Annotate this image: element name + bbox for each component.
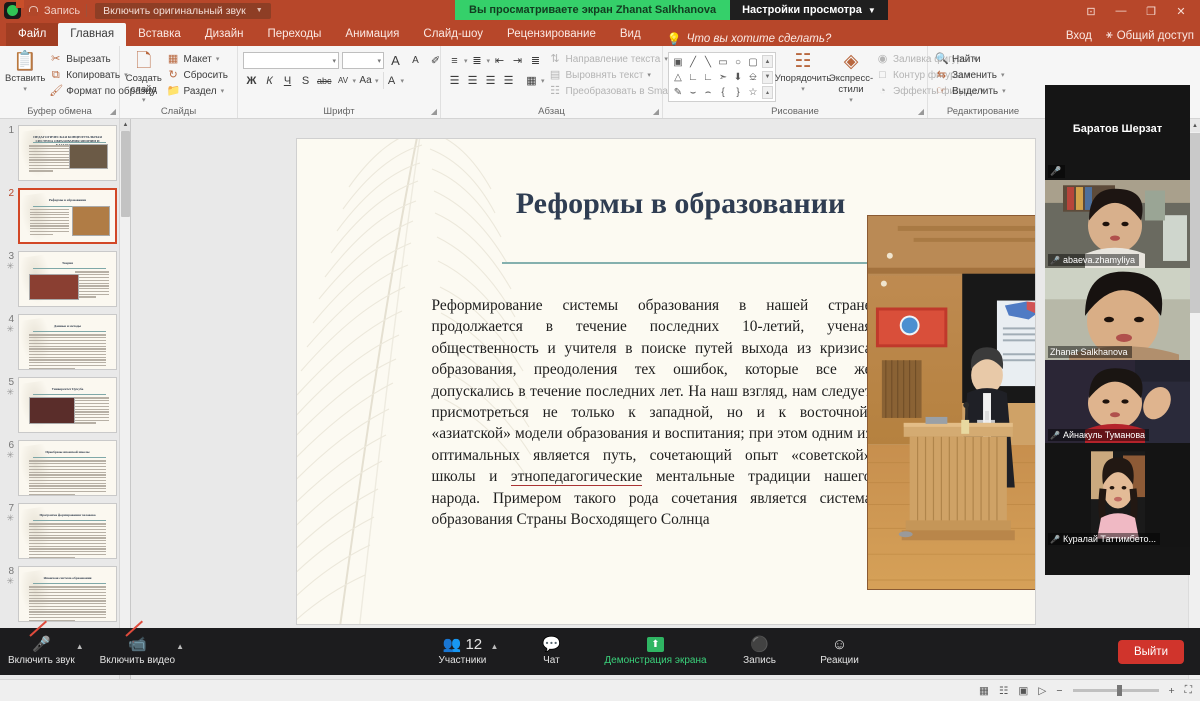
shape-oval-icon[interactable]: ○: [731, 55, 745, 69]
quick-styles-button[interactable]: ◈ Экспресс-стили ▾: [830, 49, 872, 106]
paste-label: Вставить: [5, 73, 45, 84]
start-video-button[interactable]: 📹 Включить видео: [100, 636, 176, 667]
tell-me-label: Что вы хотите сделать?: [687, 33, 832, 45]
share-screen-label: Демонстрация экрана: [604, 654, 706, 667]
clipboard-icon: 📋: [13, 51, 37, 73]
microphone-muted-icon: 🎤: [1050, 431, 1060, 440]
shape-star-icon[interactable]: ☆: [746, 85, 760, 99]
zoom-slider-knob[interactable]: [1117, 685, 1122, 696]
chevron-down-icon: ▾: [541, 77, 545, 85]
slide-sorter-icon[interactable]: ☷: [999, 685, 1008, 697]
thumbnail-title: Преобразы японской школы: [27, 450, 109, 454]
thumbnail-rule: [33, 142, 107, 143]
thumbnail-number: 4✳: [0, 314, 18, 334]
align-left-button[interactable]: ☰: [446, 72, 463, 89]
reading-view-icon[interactable]: ▣: [1018, 685, 1028, 697]
scissors-icon: ✂: [49, 53, 62, 66]
thumbnail-title: Данные и методы: [27, 324, 109, 328]
participant-name-text: Куралай Таттимбето...: [1063, 534, 1156, 544]
section-label: Раздел: [184, 85, 217, 98]
new-slide-icon: 🗋: [136, 51, 151, 73]
thumbnail-number: 6✳: [0, 440, 18, 460]
shape-elbow2-icon[interactable]: ∟: [701, 70, 715, 84]
shape-flowchart-icon[interactable]: ⎒: [746, 70, 760, 84]
microphone-muted-icon: 🎤: [1050, 535, 1060, 544]
animation-star-icon: ✳: [0, 262, 14, 271]
slide-thumbnail-list[interactable]: 1ПЕДАГОГИЧЕСКАЯ КОНЦЕПТУАЛЬНАЯ СИСТЕМА О…: [0, 119, 130, 622]
text-direction-label: Направление текста: [566, 53, 661, 66]
view-options-button[interactable]: Настройки просмотра ▼: [730, 0, 888, 20]
shape-curve-icon[interactable]: ⌣: [686, 85, 700, 99]
reactions-icon: ☺: [832, 636, 847, 653]
thumbnail-number: 8✳: [0, 566, 18, 586]
canvas-scroll-up-icon[interactable]: ▲: [1189, 119, 1200, 132]
tab-slideshow[interactable]: Слайд-шоу: [411, 23, 495, 46]
zoom-share-indicator: Вы просматриваете экран Zhanat Salkhanov…: [455, 0, 888, 20]
shape-left-brace-icon[interactable]: {: [716, 85, 730, 99]
replace-icon: ⇆: [935, 69, 948, 82]
slide-photo[interactable]: [867, 215, 1035, 590]
font-name-combo[interactable]: ▾: [243, 52, 339, 69]
chevron-down-icon: ▾: [1002, 85, 1006, 98]
shape-effects-icon: ◔: [876, 85, 889, 98]
fit-to-window-icon[interactable]: ⛶: [1185, 684, 1192, 697]
ppt-status-bar: ▦ ☷ ▣ ▷ − + ⛶: [0, 679, 1200, 701]
record-label: Запись: [743, 654, 776, 667]
work-area: 1ПЕДАГОГИЧЕСКАЯ КОНЦЕПТУАЛЬНАЯ СИСТЕМА О…: [0, 119, 1200, 679]
zoom-out-icon[interactable]: −: [1056, 685, 1062, 697]
new-slide-button[interactable]: 🗋 Создать слайд ▾: [125, 49, 163, 106]
window-controls: ⊡ — ❐ ✕: [1076, 2, 1196, 20]
copy-icon: ⧉: [49, 69, 62, 82]
sharing-banner: Вы просматриваете экран Zhanat Salkhanov…: [455, 0, 730, 20]
microphone-muted-icon: 🎤: [1048, 165, 1065, 178]
slide-thumbnail[interactable]: Данные и методы: [18, 314, 117, 370]
maximize-button[interactable]: ❐: [1136, 2, 1166, 20]
thumbnail-photo: [29, 274, 79, 300]
cursor-select-icon: ☞: [935, 85, 948, 98]
zoom-top-left-controls: Запись Включить оригинальный звук ▼: [4, 2, 271, 19]
thumbnail-photo: [69, 144, 108, 169]
shape-line-icon[interactable]: ╱: [686, 55, 700, 69]
layout-icon: ▦: [167, 53, 180, 66]
find-button[interactable]: 🔍 Найти: [933, 52, 1010, 67]
replace-label: Заменить: [952, 69, 997, 82]
ribbon: 📋 Вставить ▾ ✂ Вырезать ⧉ Копировать ▾: [0, 46, 1200, 119]
thumbnail-row[interactable]: 5✳Университет Цукуба: [0, 377, 126, 433]
copy-label: Копировать: [66, 69, 120, 82]
zoom-app-icon: [4, 2, 21, 19]
video-tile[interactable]: К.Калиевна Тал...🎤: [1045, 547, 1190, 575]
decrease-indent-button[interactable]: ⇤: [491, 52, 508, 69]
italic-button[interactable]: К: [261, 72, 278, 89]
leave-meeting-button[interactable]: Выйти: [1118, 640, 1184, 664]
chevron-down-icon: ▾: [1001, 69, 1005, 82]
group-title-paragraph: Абзац: [446, 106, 657, 118]
mute-label: Включить звук: [8, 654, 75, 667]
participant-name-label: 🎤Айнакуль Туманова: [1048, 429, 1149, 441]
align-text-icon: ▤: [549, 69, 562, 82]
replace-button[interactable]: ⇆ Заменить ▾: [933, 68, 1010, 83]
restore-down-icon[interactable]: ⊡: [1076, 2, 1106, 20]
group-title-editing: Редактирование: [933, 106, 1033, 118]
thumbnail-body-lines: [75, 271, 109, 299]
cut-label: Вырезать: [66, 53, 110, 66]
arrange-button[interactable]: ☷ Упорядочить ▾: [778, 49, 828, 95]
mute-button[interactable]: 🎤 Включить звук: [8, 636, 75, 667]
shapes-more-icon[interactable]: ▴: [762, 86, 773, 99]
original-sound-label: Включить оригинальный звук: [103, 5, 246, 17]
tab-insert[interactable]: Вставка: [126, 23, 193, 46]
original-sound-button[interactable]: Включить оригинальный звук ▼: [95, 3, 271, 19]
thumbnail-body-lines: [29, 586, 107, 622]
lecture-hall-photo: [868, 216, 1035, 589]
section-button[interactable]: 📁 Раздел ▾: [165, 84, 232, 99]
strikethrough-button[interactable]: abc: [315, 72, 334, 89]
thumbnail-rule: [33, 457, 107, 458]
increase-indent-button[interactable]: ⇥: [509, 52, 526, 69]
reset-button[interactable]: ↻ Сбросить: [165, 68, 232, 83]
chat-icon: 💬: [542, 636, 561, 653]
thumbnail-row[interactable]: 3✳Теория: [0, 251, 126, 307]
paste-button[interactable]: 📋 Вставить ▾: [5, 49, 45, 95]
drawing-dialog-launcher[interactable]: ◢: [918, 107, 924, 116]
thumbnail-number: 2: [0, 188, 18, 199]
slide-canvas-pane: Реформы в образовании Реформирование сис…: [131, 119, 1200, 679]
tab-design[interactable]: Дизайн: [193, 23, 256, 46]
thumbnail-rule: [33, 583, 107, 584]
share-button[interactable]: ⚹ Общий доступ: [1106, 29, 1194, 42]
shape-fill-icon: ◉: [876, 53, 889, 66]
minimize-button[interactable]: —: [1106, 2, 1136, 20]
thumbnail-number: 1: [0, 125, 18, 136]
thumbnail-title: Университет Цукуба: [27, 387, 109, 391]
zoom-toolbar-center: 👥 12 Участники ▲ 💬 Чат ⬆ Демонстрация эк…: [184, 636, 1118, 667]
group-title-drawing: Рисование: [668, 106, 922, 118]
font-dialog-launcher[interactable]: ◢: [431, 107, 437, 116]
tab-view[interactable]: Вид: [608, 23, 653, 46]
record-circle-icon: ⚫: [750, 636, 769, 653]
font-color-button[interactable]: A: [383, 72, 400, 89]
canvas-scroll-thumb[interactable]: [1190, 133, 1200, 313]
columns-button[interactable]: ▦: [523, 72, 540, 89]
participant-name-text: Zhanat Salkhanova: [1050, 347, 1128, 357]
participant-name-text: abaeva.zhamyliya: [1063, 255, 1135, 265]
chevron-down-icon: ▾: [647, 69, 651, 82]
normal-view-icon[interactable]: ▦: [979, 685, 989, 697]
thumbnail-scroll-up-icon[interactable]: ▲: [120, 119, 131, 131]
animation-star-icon: ✳: [0, 388, 14, 397]
chevron-down-icon: ▾: [353, 77, 357, 85]
thumbnail-title: Программа формирования человека: [27, 513, 109, 517]
video-tile[interactable]: Баратов Шерзат🎤: [1045, 85, 1190, 180]
zoom-in-icon[interactable]: +: [1169, 685, 1175, 697]
participant-name-label: Zhanat Salkhanova: [1048, 346, 1132, 358]
bullets-button[interactable]: ≡: [446, 52, 463, 69]
text-direction-icon: ⇅: [549, 53, 562, 66]
chevron-down-icon: ▾: [142, 95, 146, 106]
shapes-gallery[interactable]: ▣ ╱ ╲ ▭ ○ ▢ △ ∟ ∟ ➣ ⬇ ⎒ ✎ ⌣ ⌢: [668, 52, 776, 102]
participant-video-feed: [1045, 443, 1190, 547]
animation-star-icon: ✳: [0, 514, 14, 523]
group-title-clipboard: Буфер обмена: [5, 106, 114, 118]
tab-review[interactable]: Рецензирование: [495, 23, 608, 46]
camera-off-icon: 📹: [128, 636, 147, 653]
chat-button[interactable]: 💬 Чат: [524, 636, 578, 667]
select-button[interactable]: ☞ Выделить ▾: [933, 84, 1010, 99]
thumbnail-row[interactable]: 1ПЕДАГОГИЧЕСКАЯ КОНЦЕПТУАЛЬНАЯ СИСТЕМА О…: [0, 125, 126, 181]
thumbnail-photo: [72, 206, 110, 236]
participants-control[interactable]: 👥 12 Участники ▲: [435, 636, 498, 667]
reset-label: Сбросить: [184, 69, 228, 82]
thumbnail-title: Японская система образования: [27, 576, 109, 580]
slide-canvas[interactable]: Реформы в образовании Реформирование сис…: [297, 139, 1035, 624]
thumbnail-photo: [29, 397, 76, 424]
arrange-icon: ☷: [794, 51, 811, 73]
chevron-down-icon: ▼: [868, 6, 876, 15]
slide-thumbnail[interactable]: Реформы в образовании: [18, 188, 117, 244]
chevron-down-icon: ▾: [849, 95, 853, 106]
thumbnail-number: 5✳: [0, 377, 18, 397]
quick-styles-icon: ◈: [844, 51, 859, 73]
shapes-scroll-down-icon[interactable]: ▼: [762, 71, 773, 84]
video-tile[interactable]: Zhanat Salkhanova: [1045, 268, 1190, 360]
slideshow-icon[interactable]: ▷: [1038, 685, 1046, 697]
shape-down-arrow-icon[interactable]: ⬇: [731, 70, 745, 84]
shape-arc-icon[interactable]: ⌢: [701, 85, 715, 99]
share-label: Общий доступ: [1117, 30, 1194, 42]
ribbon-group-font: ▾ ▾ A A ✐ Ж К Ч S abc AV ▾: [238, 46, 441, 118]
tab-home[interactable]: Главная: [58, 23, 126, 46]
shape-outline-icon: □: [876, 69, 889, 82]
paintbrush-icon: 🖌: [49, 85, 62, 98]
new-slide-label: Создать слайд: [125, 73, 163, 95]
shape-arrow-icon[interactable]: ╲: [701, 55, 715, 69]
shapes-scrollbar[interactable]: ▲ ▼ ▴: [762, 55, 773, 99]
font-size-combo[interactable]: ▾: [342, 52, 384, 69]
thumbnail-rule: [33, 394, 107, 395]
align-center-button[interactable]: ☰: [464, 72, 481, 89]
close-button[interactable]: ✕: [1166, 2, 1196, 20]
slide-thumbnail[interactable]: Японская система образования: [18, 566, 117, 622]
zoom-video-strip[interactable]: Баратов Шерзат🎤 🎤abaeva.zhamyliya: [1045, 85, 1190, 575]
thumbnail-row[interactable]: 2Реформы в образовании: [0, 188, 126, 244]
thumbnail-body-lines: [29, 145, 70, 173]
shape-rounded-rect-icon[interactable]: ▢: [746, 55, 760, 69]
paragraph-dialog-launcher[interactable]: ◢: [653, 107, 659, 116]
video-tile[interactable]: 🎤Айнакуль Туманова: [1045, 360, 1190, 443]
reset-icon: ↻: [167, 69, 180, 82]
thumbnail-body-lines: [29, 523, 107, 559]
thumbnail-body-lines: [29, 460, 107, 496]
chevron-down-icon: ▾: [332, 57, 336, 65]
chevron-down-icon[interactable]: ▼: [256, 7, 263, 14]
thumbnail-rule: [33, 331, 107, 332]
layout-button[interactable]: ▦ Макет ▾: [165, 52, 232, 67]
chevron-down-icon: ▾: [487, 57, 491, 65]
animation-star-icon: ✳: [0, 577, 14, 586]
thumbnail-index: 2: [8, 188, 14, 199]
align-text-label: Выровнять текст: [566, 69, 644, 82]
microphone-muted-icon: 🎤: [1050, 256, 1060, 265]
participant-name-label: 🎤abaeva.zhamyliya: [1048, 254, 1139, 266]
shape-elbow-icon[interactable]: ∟: [686, 70, 700, 84]
ribbon-group-slides: 🗋 Создать слайд ▾ ▦ Макет ▾ ↻ Сбросить: [120, 46, 238, 118]
select-label: Выделить: [952, 85, 998, 98]
thumbnail-title: Теория: [27, 261, 109, 265]
slide-text-run: Реформирование системы образования в наш…: [432, 297, 872, 485]
record-indicator-icon[interactable]: [27, 5, 38, 16]
numbering-button[interactable]: ≣: [469, 52, 486, 69]
line-spacing-button[interactable]: ≣: [527, 52, 544, 69]
thumbnail-body-lines: [30, 209, 70, 237]
chevron-down-icon: ▾: [23, 84, 27, 95]
participants-button[interactable]: 👥 12 Участники: [435, 636, 489, 667]
chevron-down-icon: ▾: [464, 57, 468, 65]
slide-thumbnail[interactable]: Теория: [18, 251, 117, 307]
thumbnail-scrollbar[interactable]: ▲ ▼: [119, 119, 130, 679]
thumbnail-rule: [33, 268, 107, 269]
video-control[interactable]: 📹 Включить видео ▲: [100, 636, 184, 667]
align-right-button[interactable]: ☰: [482, 72, 499, 89]
thumbnail-index: 1: [8, 125, 14, 136]
zoom-meeting-toolbar: 🎤 Включить звук ▲ 📹 Включить видео ▲ 👥 1…: [0, 628, 1200, 675]
signin-link[interactable]: Вход: [1066, 30, 1092, 42]
video-tile[interactable]: 🎤Куралай Таттимбето...: [1045, 443, 1190, 547]
participants-icon: 👥 12: [443, 636, 482, 653]
thumbnail-body-lines: [29, 334, 107, 370]
chevron-down-icon: ▾: [801, 84, 805, 95]
thumbnail-title: Реформы в образовании: [28, 198, 108, 202]
layout-label: Макет: [184, 53, 212, 66]
search-icon: 🔍: [935, 53, 948, 66]
tab-transitions[interactable]: Переходы: [255, 23, 333, 46]
microphone-muted-icon: 🎤: [32, 636, 51, 653]
record-label[interactable]: Запись: [44, 5, 80, 17]
participant-name-centered: Баратов Шерзат: [1045, 123, 1190, 135]
thumbnail-number: 3✳: [0, 251, 18, 271]
shape-right-arrow-icon[interactable]: ➣: [716, 70, 730, 84]
chevron-down-icon: ▾: [377, 57, 381, 65]
justify-button[interactable]: ☰: [500, 72, 517, 89]
reactions-label: Реакции: [820, 654, 859, 667]
slide-thumbnail[interactable]: Университет Цукуба: [18, 377, 117, 433]
section-icon: 📁: [167, 85, 180, 98]
animation-star-icon: ✳: [0, 325, 14, 334]
ribbon-group-editing: 🔍 Найти ⇆ Заменить ▾ ☞ Выделить ▾ Реда: [928, 46, 1038, 118]
record-button[interactable]: ⚫ Запись: [733, 636, 787, 667]
ribbon-group-paragraph: ≡▾ ≣▾ ⇤ ⇥ ≣ ☰ ☰ ☰ ☰ ▦▾: [441, 46, 663, 118]
ribbon-group-drawing: ▣ ╱ ╲ ▭ ○ ▢ △ ∟ ∟ ➣ ⬇ ⎒ ✎ ⌣ ⌢: [663, 46, 928, 118]
participant-name-label: 🎤Куралай Таттимбето...: [1048, 533, 1160, 545]
start-video-label: Включить видео: [100, 654, 176, 667]
chevron-down-icon: ▾: [221, 85, 225, 98]
decrease-font-size-button[interactable]: A: [407, 52, 424, 69]
change-case-button[interactable]: Aa: [357, 72, 374, 89]
ribbon-group-clipboard: 📋 Вставить ▾ ✂ Вырезать ⧉ Копировать ▾: [0, 46, 120, 118]
share-screen-button[interactable]: ⬆ Демонстрация экрана: [604, 636, 706, 667]
thumbnail-row[interactable]: 6✳Преобразы японской школы: [0, 440, 126, 496]
clipboard-dialog-launcher[interactable]: ◢: [110, 107, 116, 116]
divider: [86, 4, 87, 17]
shape-right-brace-icon[interactable]: }: [731, 85, 745, 99]
text-shadow-button[interactable]: S: [297, 72, 314, 89]
shapes-scroll-up-icon[interactable]: ▲: [762, 55, 773, 68]
participant-name-text: Айнакуль Туманова: [1063, 430, 1145, 440]
underline-button[interactable]: Ч: [279, 72, 296, 89]
increase-font-size-button[interactable]: A: [387, 52, 404, 69]
shape-freeform-icon[interactable]: ✎: [671, 85, 685, 99]
chevron-down-icon: ▾: [216, 53, 220, 66]
participants-label: Участники: [439, 654, 487, 667]
video-options-chevron-icon[interactable]: ▲: [176, 642, 184, 651]
slide-thumbnail[interactable]: ПЕДАГОГИЧЕСКАЯ КОНЦЕПТУАЛЬНАЯ СИСТЕМА ОБ…: [18, 125, 117, 181]
arrange-label: Упорядочить: [775, 73, 832, 84]
view-options-label: Настройки просмотра: [742, 4, 862, 16]
tab-animation[interactable]: Анимация: [333, 23, 411, 46]
bold-button[interactable]: Ж: [243, 72, 260, 89]
thumbnail-row[interactable]: 7✳Программа формирования человека: [0, 503, 126, 559]
thumbnail-scroll-thumb[interactable]: [121, 131, 130, 217]
slide-body-text[interactable]: Реформирование системы образования в наш…: [432, 295, 872, 530]
thumbnail-rule: [33, 520, 107, 521]
video-tile[interactable]: 🎤abaeva.zhamyliya: [1045, 180, 1190, 268]
find-label: Найти: [952, 53, 981, 66]
zoom-toolbar-left: 🎤 Включить звук ▲ 📹 Включить видео ▲: [0, 636, 184, 667]
slide-thumbnail-pane[interactable]: 1ПЕДАГОГИЧЕСКАЯ КОНЦЕПТУАЛЬНАЯ СИСТЕМА О…: [0, 119, 131, 679]
lightbulb-icon: 💡: [667, 32, 682, 46]
thumbnail-row[interactable]: 4✳Данные и методы: [0, 314, 126, 370]
group-title-slides: Слайды: [125, 106, 232, 118]
thumbnail-number: 7✳: [0, 503, 18, 523]
zoom-slider[interactable]: [1073, 689, 1159, 692]
participants-chevron-icon[interactable]: ▲: [490, 642, 498, 651]
participants-count: 12: [465, 637, 482, 653]
shape-triangle-icon[interactable]: △: [671, 70, 685, 84]
person-share-icon: ⚹: [1106, 29, 1113, 42]
thumbnail-body-lines: [75, 397, 109, 425]
status-bar-right: ▦ ☷ ▣ ▷ − + ⛶: [979, 684, 1192, 697]
group-title-font: Шрифт: [243, 106, 435, 118]
slide-thumbnail[interactable]: Преобразы японской школы: [18, 440, 117, 496]
thumbnail-row[interactable]: 8✳Японская система образования: [0, 566, 126, 622]
chat-label: Чат: [543, 654, 560, 667]
audio-options-chevron-icon[interactable]: ▲: [76, 642, 84, 651]
shape-rectangle-icon[interactable]: ▭: [716, 55, 730, 69]
character-spacing-button[interactable]: AV: [335, 72, 352, 89]
smartart-icon: ☷: [549, 85, 562, 98]
chevron-down-icon: ▾: [401, 77, 405, 85]
slide-text-underlined: этнопедагогические: [511, 468, 642, 486]
titlebar-right-actions: Вход ⚹ Общий доступ: [1066, 29, 1194, 42]
quick-styles-label: Экспресс-стили: [829, 73, 873, 95]
shapes-grid[interactable]: ▣ ╱ ╲ ▭ ○ ▢ △ ∟ ∟ ➣ ⬇ ⎒ ✎ ⌣ ⌢: [671, 55, 760, 99]
reactions-button[interactable]: ☺ Реакции: [813, 636, 867, 667]
chevron-down-icon: ▾: [375, 77, 379, 85]
shape-textbox-icon[interactable]: ▣: [671, 55, 685, 69]
ribbon-tabs: Файл Главная Вставка Дизайн Переходы Ани…: [0, 22, 1200, 46]
slide-thumbnail[interactable]: Программа формирования человека: [18, 503, 117, 559]
mute-control[interactable]: 🎤 Включить звук ▲: [8, 636, 84, 667]
powerpoint-window: ⊡ — ❐ ✕ Файл Главная Вставка Дизайн Пере…: [0, 0, 1200, 655]
animation-star-icon: ✳: [0, 451, 14, 460]
share-screen-icon: ⬆: [647, 636, 664, 653]
tell-me-search[interactable]: 💡 Что вы хотите сделать?: [653, 32, 832, 46]
tab-file[interactable]: Файл: [6, 23, 58, 46]
